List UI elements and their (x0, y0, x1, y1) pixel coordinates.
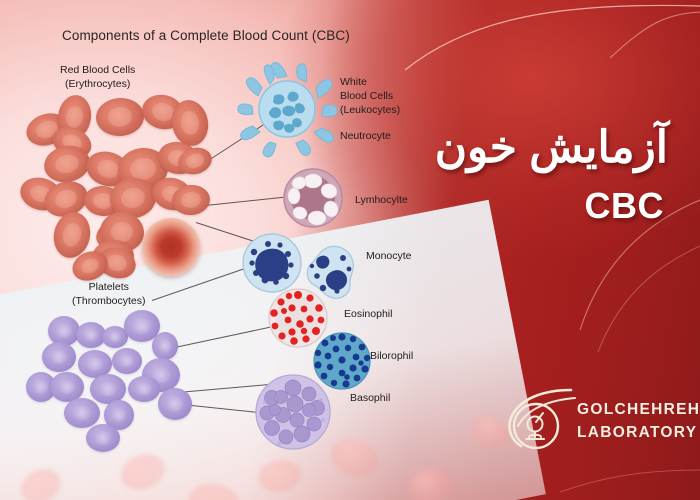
monocyte-cell (241, 232, 303, 294)
infographic-canvas: Components of a Complete Blood Count (CB… (0, 0, 700, 500)
label-monocyte: Monocyte (366, 250, 412, 264)
logo-text: GOLCHEHREH LABORATORY (577, 398, 700, 445)
headline-persian: آزمایش خون (435, 122, 668, 173)
label-wbc-line3: (Leukocytes) (340, 104, 400, 116)
highlighted-red-blood-cell (142, 218, 200, 276)
platelet (42, 342, 76, 372)
label-red-blood-cells: Red Blood Cells (Erythrocytes) (60, 64, 135, 92)
microscope-icon (505, 388, 577, 454)
page-title: Components of a Complete Blood Count (CB… (62, 28, 350, 43)
label-platelets-line1: Platelets (89, 281, 129, 293)
label-wbc-line2: Blood Cells (340, 90, 393, 102)
platelet (112, 348, 142, 374)
platelet (152, 332, 178, 360)
logo-name-line2: LABORATORY (577, 421, 700, 444)
platelet (128, 376, 160, 402)
label-rbc-line2: (Erythrocytes) (65, 78, 130, 90)
label-basophil: Basophil (350, 392, 390, 406)
platelet (158, 388, 192, 420)
label-platelets: Platelets (Thrombocytes) (72, 281, 146, 309)
basophil-cell (253, 372, 333, 452)
label-neutrocyte: Neutrocyte (340, 130, 391, 144)
label-white-blood-cells: White Blood Cells (Leukocytes) (340, 76, 400, 118)
label-platelets-line2: (Thrombocytes) (72, 295, 146, 307)
label-lymphocyte: Lymhocylte (355, 194, 408, 208)
neutrocyte-cell (236, 58, 338, 160)
logo-name-line1: GOLCHEHREH (577, 398, 700, 421)
label-wbc-line1: White (340, 76, 367, 88)
platelet (86, 424, 120, 452)
label-eosinophil: Eosinophil (344, 308, 392, 322)
headline-cbc: CBC (585, 185, 665, 227)
logo[interactable]: GOLCHEHREH LABORATORY (505, 388, 685, 454)
platelet (64, 398, 100, 428)
lymphocyte-cell (281, 166, 345, 230)
label-rbc-line1: Red Blood Cells (60, 64, 135, 76)
label-bilorophil: Bilorophil (370, 350, 413, 364)
platelet (48, 316, 80, 346)
